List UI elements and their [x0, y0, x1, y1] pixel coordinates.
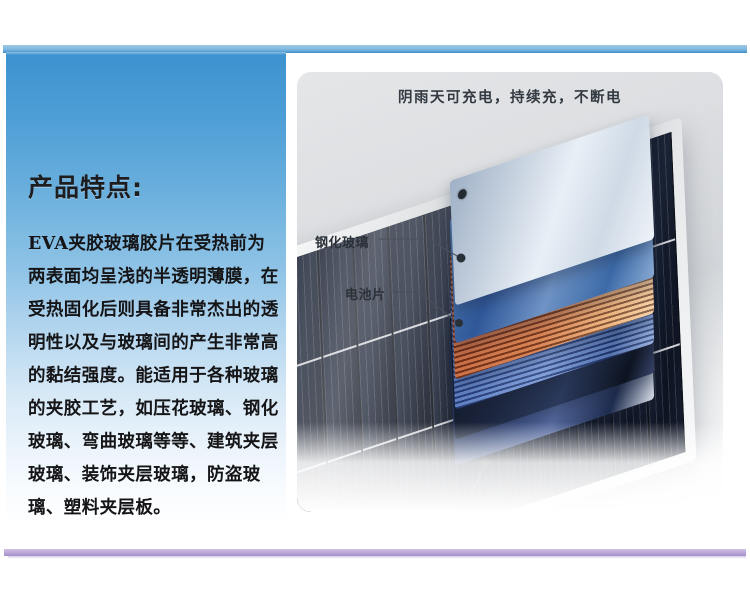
- solar-panel-illustration: 钢化玻璃 电池片 铝合金边框: [297, 72, 723, 512]
- panel-top-sheen: [6, 52, 286, 55]
- card-headline: 阴雨天可充电，持续充，不断电: [297, 86, 723, 107]
- glass-layer-anchor-dot: [458, 188, 467, 200]
- page-title: 产品特点:: [28, 168, 143, 204]
- callout-label-solar-cell: 电池片: [345, 284, 386, 303]
- exploded-layer-stack: [447, 150, 697, 360]
- product-image-card: 钢化玻璃 电池片 铝合金边框 阴雨天可充电，持续充，不断电: [297, 72, 723, 512]
- product-features-panel: 产品特点: EVA夹胶玻璃胶片在受热前为两表面均呈浅的半透明薄膜，在受热固化后则…: [6, 52, 286, 525]
- bottom-divider: [4, 549, 746, 556]
- bottom-divider-shadow: [8, 556, 746, 559]
- page-root: 产品特点: EVA夹胶玻璃胶片在受热前为两表面均呈浅的半透明薄膜，在受热固化后则…: [0, 0, 750, 594]
- callout-label-tempered-glass: 钢化玻璃: [315, 232, 369, 251]
- product-description-text: EVA夹胶玻璃胶片在受热前为两表面均呈浅的半透明薄膜，在受热固化后则具备非常杰出…: [28, 228, 282, 525]
